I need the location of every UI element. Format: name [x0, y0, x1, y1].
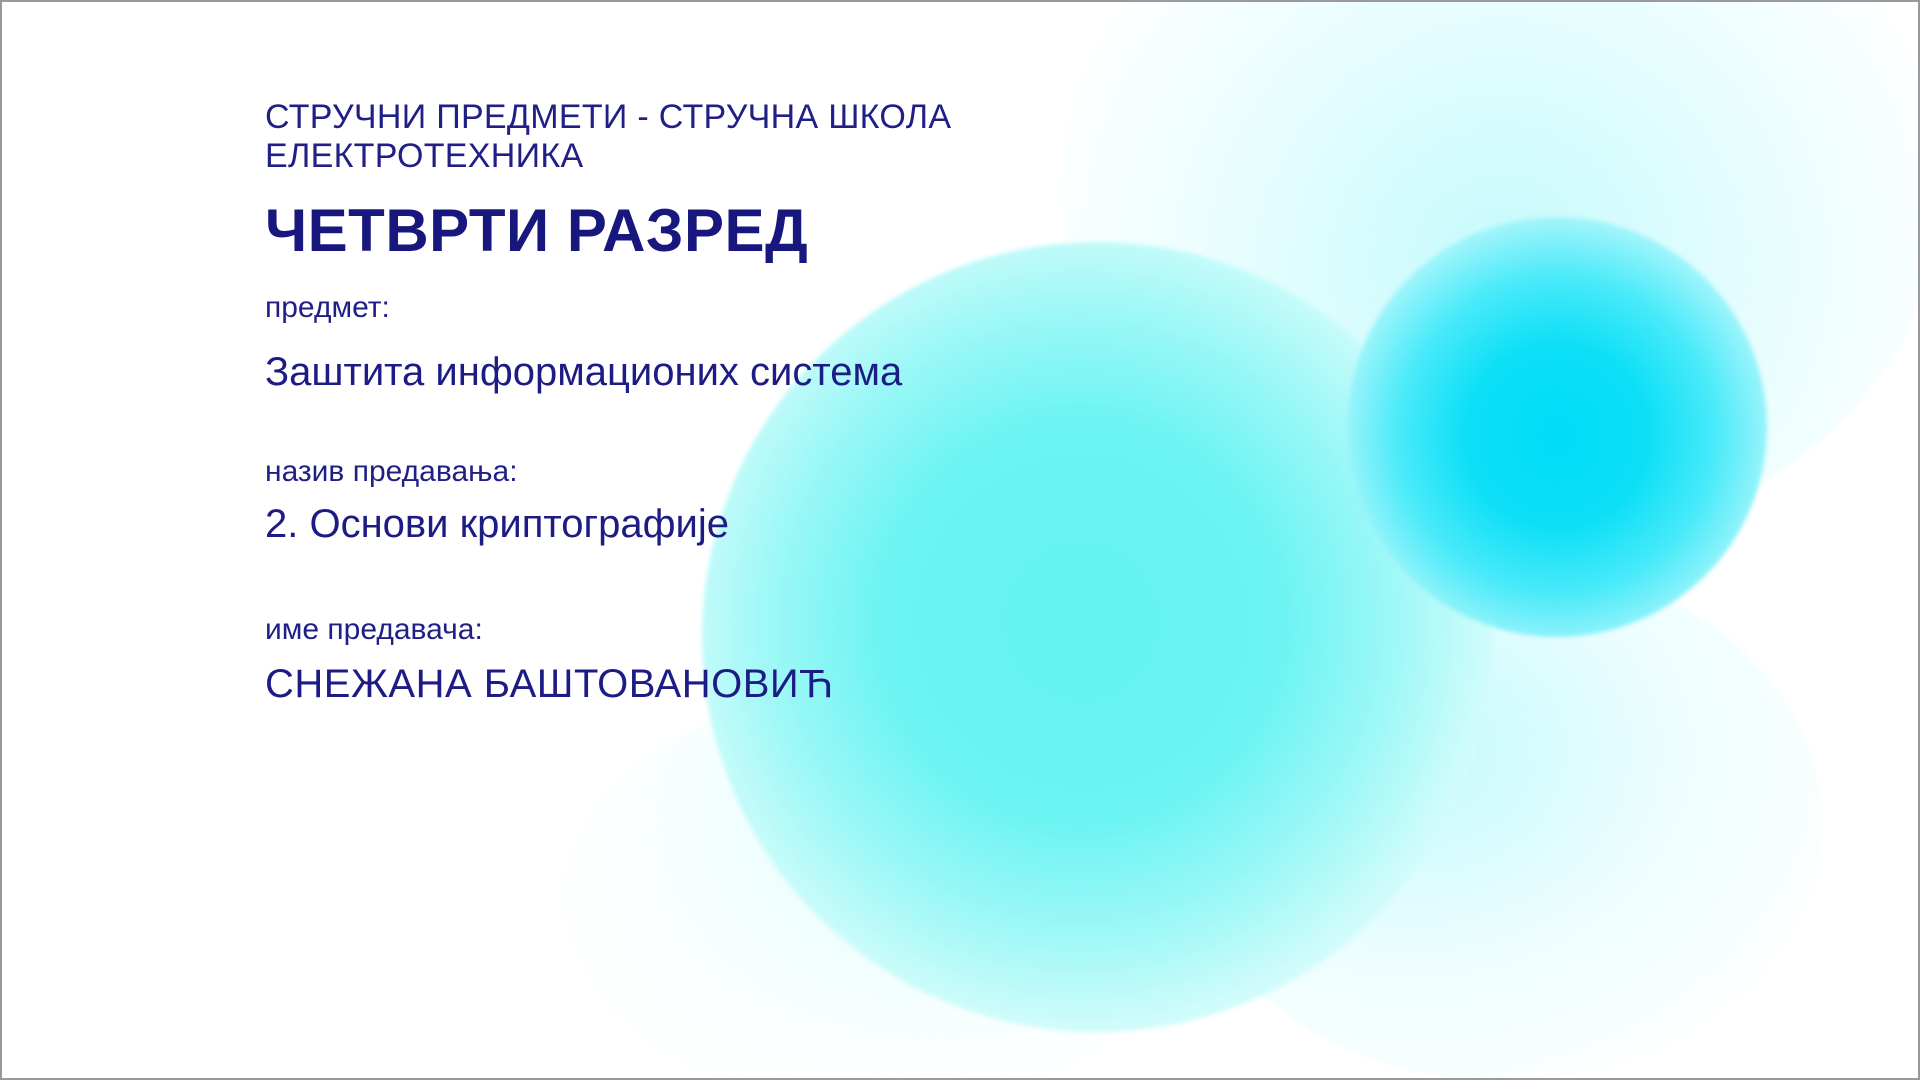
slide-content: СТРУЧНИ ПРЕДМЕТИ - СТРУЧНА ШКОЛА ЕЛЕКТРО…: [265, 98, 1365, 708]
lecture-title-label: назив предавања:: [265, 454, 1365, 490]
grade-title: ЧЕТВРТИ РАЗРЕД: [265, 199, 1365, 262]
background-blob-bright-cyan: [1347, 217, 1767, 637]
subject-label: предмет:: [265, 290, 1365, 326]
background-blob-bottom-left-wash: [562, 692, 1182, 1078]
title-slide: СТРУЧНИ ПРЕДМЕТИ - СТРУЧНА ШКОЛА ЕЛЕКТРО…: [0, 0, 1920, 1080]
lecture-title-value: 2. Основи криптографије: [265, 500, 1365, 548]
lecturer-value: СНЕЖАНА БАШТОВАНОВИЋ: [265, 660, 1365, 708]
subject-value: Заштита информационих система: [265, 348, 1365, 396]
course-category-heading: СТРУЧНИ ПРЕДМЕТИ - СТРУЧНА ШКОЛА ЕЛЕКТРО…: [265, 98, 1365, 177]
lecture-group: назив предавања: 2. Основи криптографије: [265, 454, 1365, 548]
subject-group: предмет: Заштита информационих система: [265, 290, 1365, 396]
lecturer-label: име предавача:: [265, 612, 1365, 648]
lecturer-group: име предавача: СНЕЖАНА БАШТОВАНОВИЋ: [265, 612, 1365, 708]
